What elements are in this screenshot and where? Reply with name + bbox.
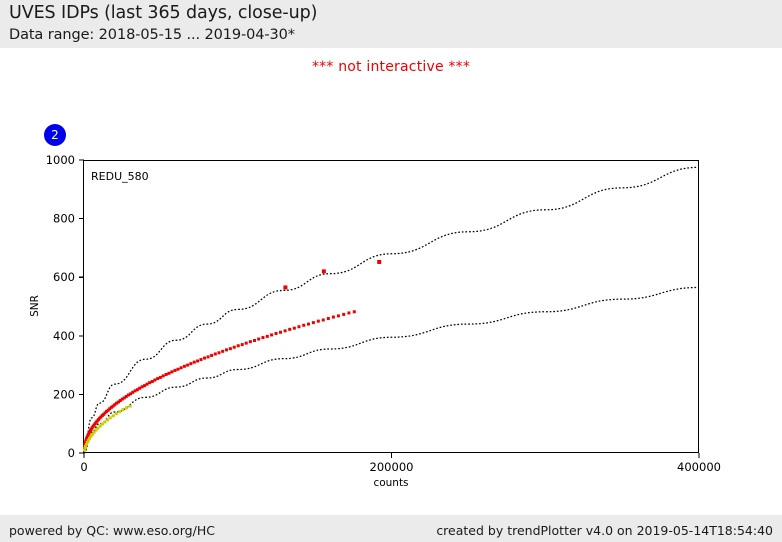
data-point: [322, 318, 325, 321]
x-axis: 0200000400000: [80, 453, 721, 474]
data-point: [225, 348, 228, 351]
data-point: [170, 370, 173, 373]
data-point: [332, 316, 335, 319]
data-point: [337, 314, 340, 317]
trendplotter-page: UVES IDPs (last 365 days, close-up) Data…: [0, 0, 782, 542]
data-point: [297, 325, 300, 328]
plot-area: 02004006008001000 0200000400000 SNR coun…: [0, 0, 782, 542]
y-tick-label: 800: [53, 212, 75, 226]
data-point: [249, 340, 252, 343]
data-point: [307, 323, 310, 326]
data-point: [302, 324, 305, 327]
scatter-plot-svg: 02004006008001000 0200000400000 SNR coun…: [0, 0, 782, 542]
data-point: [279, 331, 282, 334]
data-point: [293, 327, 296, 330]
data-point: [183, 365, 186, 368]
data-point: [177, 368, 180, 371]
y-tick-label: 400: [53, 329, 75, 343]
data-point: [196, 360, 199, 363]
data-point: [103, 420, 106, 423]
data-point: [174, 369, 177, 372]
data-point: [193, 361, 196, 364]
data-point: [317, 320, 320, 323]
data-point: [237, 344, 240, 347]
data-point: [214, 352, 217, 355]
y-tick-label: 0: [68, 446, 75, 460]
data-point: [200, 358, 203, 361]
data-point: [162, 374, 165, 377]
data-point: [109, 416, 112, 419]
data-point: [261, 336, 264, 339]
data-point: [148, 381, 151, 384]
data-point: [377, 260, 381, 264]
data-point: [159, 376, 162, 379]
x-tick-label: 200000: [370, 460, 414, 474]
data-point: [257, 338, 260, 341]
data-point: [327, 317, 330, 320]
y-axis: 02004006008001000: [46, 153, 84, 460]
data-point: [207, 355, 210, 358]
data-point: [203, 357, 206, 360]
data-point: [146, 383, 149, 386]
data-point: [283, 285, 287, 289]
data-point: [180, 366, 183, 369]
data-point: [121, 408, 124, 411]
data-point: [112, 414, 115, 417]
data-point: [347, 311, 350, 314]
data-point: [221, 350, 224, 353]
data-point: [270, 333, 273, 336]
data-point: [284, 329, 287, 332]
data-point: [168, 372, 171, 375]
x-axis-title: counts: [373, 477, 408, 489]
data-point: [106, 418, 109, 421]
x-tick-label: 0: [80, 460, 87, 474]
panel-label: REDU_580: [91, 170, 149, 183]
x-tick-label: 400000: [677, 460, 721, 474]
footer-credit-left: powered by QC: www.eso.org/HC: [9, 523, 215, 538]
data-point: [312, 321, 315, 324]
data-point: [153, 379, 156, 382]
data-point: [288, 328, 291, 331]
data-point: [229, 347, 232, 350]
footer-credit-right: created by trendPlotter v4.0 on 2019-05-…: [436, 523, 773, 538]
data-point: [151, 380, 154, 383]
data-point: [233, 346, 236, 349]
data-point: [186, 364, 189, 367]
y-tick-label: 1000: [46, 153, 75, 167]
data-point: [217, 351, 220, 354]
data-point: [165, 373, 168, 376]
data-point: [342, 313, 345, 316]
data-point: [241, 343, 244, 346]
plot-frame: [84, 161, 699, 453]
data-point: [156, 377, 159, 380]
data-point: [125, 406, 128, 409]
data-point: [245, 342, 248, 345]
y-tick-label: 200: [53, 387, 75, 401]
data-point: [353, 310, 356, 313]
y-tick-label: 600: [53, 270, 75, 284]
data-point: [322, 269, 326, 273]
data-point: [275, 332, 278, 335]
data-point: [253, 339, 256, 342]
y-axis-title: SNR: [29, 295, 41, 317]
data-point: [129, 405, 132, 408]
data-point: [189, 362, 192, 365]
data-point: [118, 410, 121, 413]
data-point: [210, 354, 213, 357]
data-point: [115, 412, 118, 415]
data-point: [266, 335, 269, 338]
